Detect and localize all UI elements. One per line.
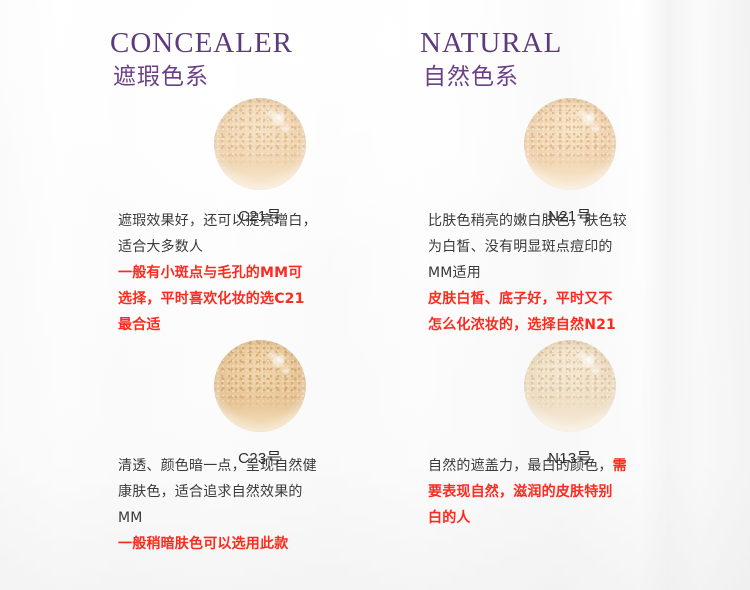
swatch-circle-n21	[524, 98, 616, 190]
swatch-block-n21: N21号	[420, 98, 720, 226]
desc-line: 为白皙、没有明显斑点痘印的	[428, 234, 700, 260]
desc-line: 要表现自然，滋润的皮肤特别	[428, 479, 700, 505]
desc-text-accent: 最合适	[118, 317, 161, 333]
heading-concealer: Concealer 遮瑕色系	[110, 16, 293, 92]
heading-concealer-en: Concealer	[110, 16, 293, 60]
description-n13: 自然的遮盖力，最白的颜色，需 要表现自然，滋润的皮肤特别 白的人	[428, 453, 700, 531]
desc-text: 康肤色，适合追求自然效果的	[118, 484, 303, 500]
desc-text: 为白皙、没有明显斑点痘印的	[428, 239, 613, 255]
description-n21: 比肤色稍亮的嫩白肤色，肤色较 为白皙、没有明显斑点痘印的 MM适用 皮肤白皙、底…	[428, 208, 700, 338]
description-c23: 清透、颜色暗一点，呈现自然健 康肤色，适合追求自然效果的 MM 一般稍暗肤色可以…	[118, 453, 390, 557]
heading-concealer-cn: 遮瑕色系	[113, 62, 293, 92]
swatch-edge-n21	[524, 98, 616, 190]
desc-text: MM	[118, 510, 143, 526]
desc-text: 自然的遮盖力，最白的颜色，	[428, 458, 613, 474]
desc-line: MM适用	[428, 260, 700, 286]
desc-text-accent: 要表现自然，滋润的皮肤特别	[428, 484, 613, 500]
swatch-block-n13: N13号	[420, 340, 720, 468]
swatch-circle-n13	[524, 340, 616, 432]
heading-natural-en: Natural	[420, 16, 562, 60]
desc-line: 自然的遮盖力，最白的颜色，需	[428, 453, 700, 479]
desc-line: 康肤色，适合追求自然效果的	[118, 479, 390, 505]
desc-text: MM适用	[428, 265, 481, 281]
swatch-circle-c21	[214, 98, 306, 190]
desc-line: 比肤色稍亮的嫩白肤色，肤色较	[428, 208, 700, 234]
desc-text: 适合大多数人	[118, 239, 203, 255]
swatch-edge-c23	[214, 340, 306, 432]
desc-line: 怎么化浓妆的，选择自然N21	[428, 312, 700, 338]
heading-natural: Natural 自然色系	[420, 16, 562, 92]
desc-text-accent: 一般有小斑点与毛孔的MM可	[118, 265, 302, 281]
swatch-edge-c21	[214, 98, 306, 190]
swatch-edge-n13	[524, 340, 616, 432]
desc-text-accent: 皮肤白皙、底子好，平时又不	[428, 291, 613, 307]
desc-line: MM	[118, 505, 390, 531]
desc-text: 遮瑕效果好，还可以提亮增白，	[118, 213, 317, 229]
heading-natural-cn: 自然色系	[423, 62, 562, 92]
desc-line: 遮瑕效果好，还可以提亮增白，	[118, 208, 390, 234]
desc-text: 比肤色稍亮的嫩白肤色，肤色较	[428, 213, 627, 229]
desc-text: 清透、颜色暗一点，呈现自然健	[118, 458, 317, 474]
desc-text-accent: 选择，平时喜欢化妆的选C21	[118, 291, 305, 307]
desc-line: 白的人	[428, 505, 700, 531]
desc-line: 一般稍暗肤色可以选用此款	[118, 531, 390, 557]
swatch-block-c23: C23号	[110, 340, 410, 468]
desc-text-accent: 需	[613, 458, 627, 474]
swatch-circle-c23	[214, 340, 306, 432]
desc-text-accent: 一般稍暗肤色可以选用此款	[118, 536, 288, 552]
desc-text-accent: 怎么化浓妆的，选择自然N21	[428, 317, 616, 333]
desc-line: 清透、颜色暗一点，呈现自然健	[118, 453, 390, 479]
desc-line: 选择，平时喜欢化妆的选C21	[118, 286, 390, 312]
desc-line: 最合适	[118, 312, 390, 338]
desc-line: 一般有小斑点与毛孔的MM可	[118, 260, 390, 286]
swatch-block-c21: C21号	[110, 98, 410, 226]
desc-line: 皮肤白皙、底子好，平时又不	[428, 286, 700, 312]
description-c21: 遮瑕效果好，还可以提亮增白， 适合大多数人 一般有小斑点与毛孔的MM可 选择，平…	[118, 208, 390, 338]
desc-line: 适合大多数人	[118, 234, 390, 260]
desc-text-accent: 白的人	[428, 510, 471, 526]
shade-guide-page: Concealer 遮瑕色系 C21号 遮瑕效果好，还可以提亮增白， 适合大多数…	[0, 0, 750, 590]
